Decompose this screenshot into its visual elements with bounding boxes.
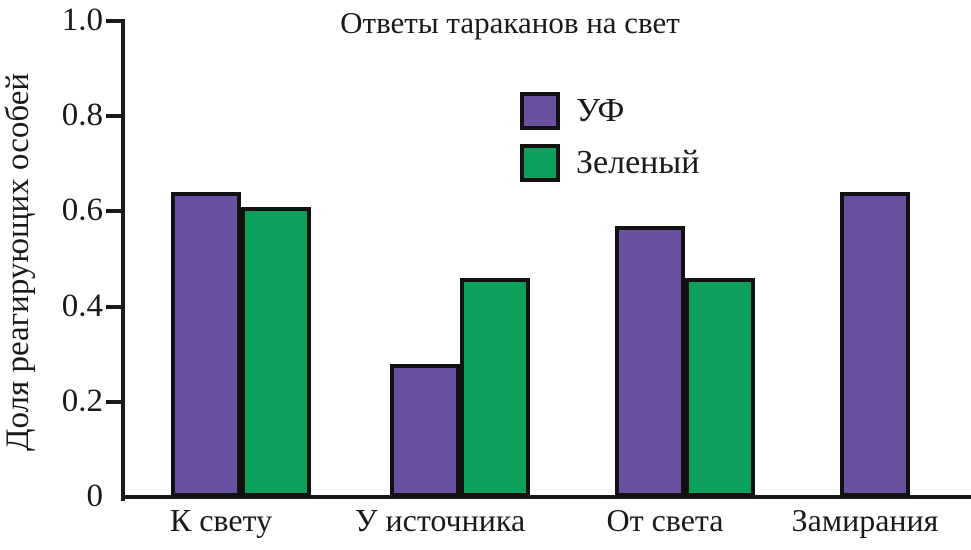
y-tick-label: 0.2 (7, 385, 103, 418)
legend-swatch-uf-icon (520, 92, 560, 130)
legend-swatch-zelenyy-icon (520, 144, 560, 182)
y-tick-label: 0.8 (7, 99, 103, 132)
bar-zelenyy-k-svetu (241, 207, 311, 497)
bar-zelenyy-u-istochnika (460, 278, 530, 497)
bar-uf-k-svetu (171, 192, 241, 497)
y-tick-label: 0.6 (7, 194, 103, 227)
x-axis-label-2: От света (570, 502, 760, 539)
y-tick-label: 0 (7, 480, 103, 513)
chart-figure: Доля реагирующих особей Ответы тараканов… (0, 0, 971, 550)
y-tick-label: 1.0 (7, 4, 103, 37)
bar-uf-u-istochnika (390, 364, 460, 497)
y-axis-line (121, 19, 125, 501)
legend-label-zelenyy: Зеленый (576, 144, 699, 182)
legend-label-uf: УФ (576, 92, 624, 130)
y-tick-label: 0.4 (7, 290, 103, 323)
legend-item-zelenyy: Зеленый (520, 144, 699, 182)
legend-item-uf: УФ (520, 92, 624, 130)
chart-title: Ответы тараканов на свет (300, 5, 720, 41)
x-axis-label-1: У источника (320, 502, 560, 539)
x-axis-label-0: К свету (131, 502, 311, 539)
y-axis-tick-labels: 1.0 0.8 0.6 0.4 0.2 0 (0, 0, 103, 550)
bar-uf-zamiraniya (840, 192, 910, 497)
bar-uf-ot-sveta (615, 226, 685, 497)
bar-zelenyy-ot-sveta (685, 278, 755, 497)
x-axis-label-3: Замирания (765, 502, 965, 539)
